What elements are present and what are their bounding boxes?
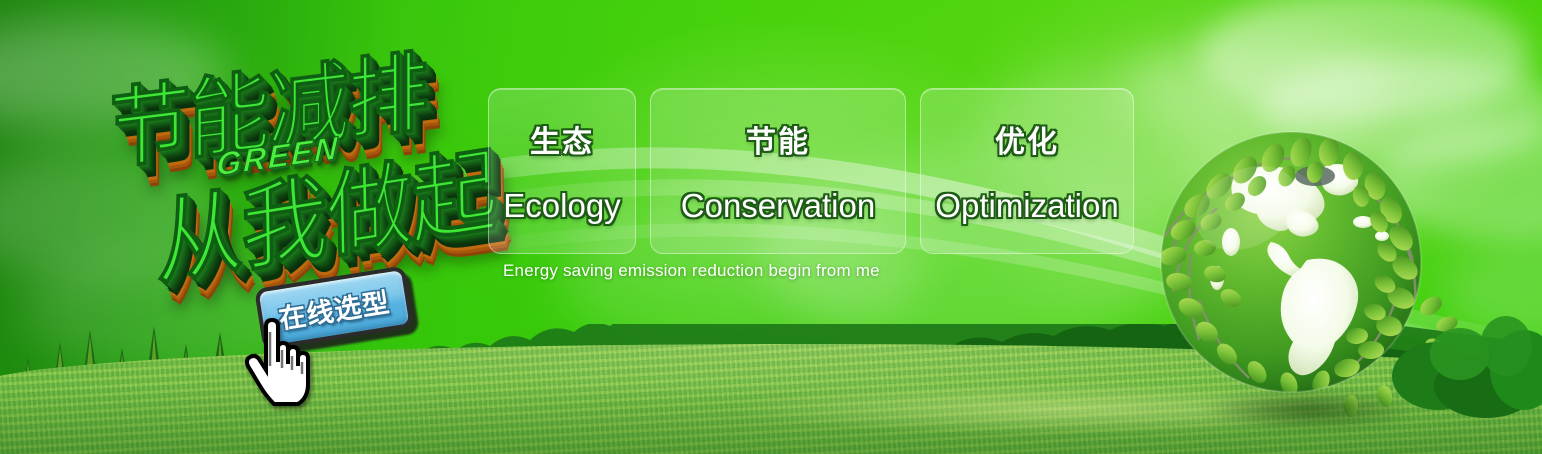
feature-card-optimization[interactable]: 优化 Optimization <box>920 88 1134 254</box>
feature-card-conservation[interactable]: 节能 Conservation <box>650 88 906 254</box>
eco-banner: 节能减排 从我做起 GREEN 在线选型 生态 Ecology 节能 Conse… <box>0 0 1542 454</box>
feature-card-title-en: Conservation <box>681 187 875 225</box>
feature-card-title-en: Ecology <box>503 187 620 225</box>
feature-card-title-cn: 生态 <box>530 117 594 161</box>
feature-card-title-cn: 节能 <box>746 117 810 161</box>
headline-logo: 节能减排 从我做起 GREEN <box>92 38 492 263</box>
feature-card-title-cn: 优化 <box>995 117 1059 161</box>
shrub-icon <box>1390 300 1542 420</box>
pointing-hand-cursor-icon <box>240 318 314 410</box>
feature-card-list: 生态 Ecology 节能 Conservation 优化 Optimizati… <box>488 88 1134 254</box>
feature-card-title-en: Optimization <box>935 187 1118 225</box>
feature-card-ecology[interactable]: 生态 Ecology <box>488 88 636 254</box>
tagline: Energy saving emission reduction begin f… <box>503 261 880 281</box>
